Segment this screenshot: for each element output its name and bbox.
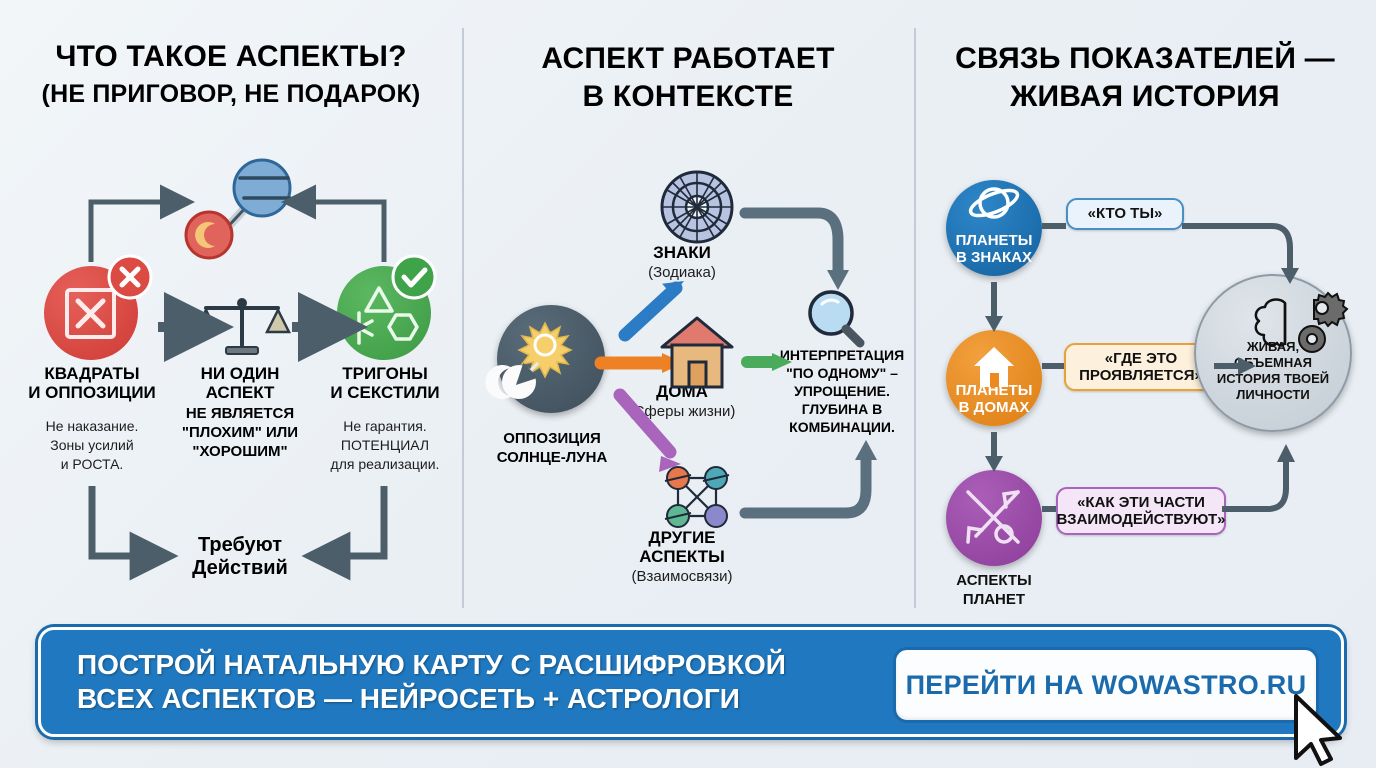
desc-trines-line2: ПОТЕНЦИАЛ bbox=[300, 437, 470, 455]
node-planets-in-signs[interactable]: ПЛАНЕТЫ В ЗНАКАХ bbox=[946, 180, 1042, 276]
cta-banner[interactable]: ПОСТРОЙ НАТАЛЬНУЮ КАРТУ С РАСШИФРОВКОЙ В… bbox=[38, 627, 1344, 737]
result-line3: УПРОЩЕНИЕ. bbox=[762, 384, 922, 400]
infographic-root: ЧТО ТАКОЕ АСПЕКТЫ? (НЕ ПРИГОВОР, НЕ ПОДА… bbox=[0, 0, 1376, 768]
result-line2: "ПО ОДНОМУ" – bbox=[762, 366, 922, 382]
desc-trines-line1: Не гарантия. bbox=[300, 418, 470, 436]
result-line4: ГЛУБИНА В bbox=[762, 402, 922, 418]
label-trines-line1: ТРИГОНЫ bbox=[312, 364, 458, 383]
living-story-line3: ИСТОРИЯ ТВОЕЙ bbox=[1217, 371, 1329, 387]
label-signs: ЗНАКИ bbox=[617, 243, 747, 262]
label-other-aspects-line2: АСПЕКТЫ bbox=[612, 547, 752, 566]
label-other-aspects-line1: ДРУГИЕ bbox=[612, 528, 752, 547]
pill-how-line2: ВЗАИМОДЕЙСТВУЮТ» bbox=[1057, 511, 1226, 528]
label-opposition-line1: ОППОЗИЦИЯ bbox=[477, 430, 627, 447]
desc-trines-line3: для реализации. bbox=[296, 456, 474, 474]
cta-button[interactable]: ПЕРЕЙТИ НА WOWASTRO.RU bbox=[893, 647, 1319, 723]
right-title-line1: СВЯЗЬ ПОКАЗАТЕЛЕЙ — bbox=[914, 42, 1376, 76]
label-balance-line3: НЕ ЯВЛЯЕТСЯ bbox=[163, 405, 317, 422]
aspects-planet-line2: ПЛАНЕТ bbox=[934, 591, 1054, 608]
label-require-action-line2: Действий bbox=[165, 557, 315, 580]
middle-title-line1: АСПЕКТ РАБОТАЕТ bbox=[462, 42, 914, 76]
sublabel-houses: (Сферы жизни) bbox=[602, 403, 762, 422]
pill-who-you-are-text: «КТО ТЫ» bbox=[1088, 205, 1163, 222]
label-squares-line1: КВАДРАТЫ bbox=[18, 364, 166, 383]
living-story-line4: ЛИЧНОСТИ bbox=[1217, 387, 1329, 403]
node-planets-in-houses[interactable]: ПЛАНЕТЫ В ДОМАХ bbox=[946, 330, 1042, 426]
planets-signs-line2: В ЗНАКАХ bbox=[956, 249, 1033, 266]
node-living-story[interactable]: ЖИВАЯ, ОБЪЕМНАЯ ИСТОРИЯ ТВОЕЙ ЛИЧНОСТИ bbox=[1194, 274, 1352, 432]
pill-who-you-are[interactable]: «КТО ТЫ» bbox=[1066, 198, 1184, 230]
middle-title-line2: В КОНТЕКСТЕ bbox=[462, 80, 914, 114]
right-title-line2: ЖИВАЯ ИСТОРИЯ bbox=[914, 80, 1376, 114]
label-balance-line4: "ПЛОХИМ" ИЛИ bbox=[158, 424, 322, 441]
planets-signs-line1: ПЛАНЕТЫ bbox=[956, 232, 1033, 249]
pill-where-line2: ПРОЯВЛЯЕТСЯ» bbox=[1079, 367, 1203, 384]
node-trines-sextiles[interactable] bbox=[337, 266, 431, 360]
left-title-line2: (НЕ ПРИГОВОР, НЕ ПОДАРОК) bbox=[0, 80, 462, 108]
planets-houses-line2: В ДОМАХ bbox=[956, 399, 1033, 416]
label-squares-line2: И ОППОЗИЦИИ bbox=[8, 383, 176, 402]
column-what-are-aspects: ЧТО ТАКОЕ АСПЕКТЫ? (НЕ ПРИГОВОР, НЕ ПОДА… bbox=[0, 0, 462, 610]
pill-where-line1: «ГДЕ ЭТО bbox=[1105, 350, 1177, 367]
result-line5: КОМБИНАЦИИ. bbox=[762, 420, 922, 436]
label-opposition-line2: СОЛНЦЕ-ЛУНА bbox=[477, 449, 627, 466]
label-require-action-line1: Требуют bbox=[165, 534, 315, 557]
cta-banner-text: ПОСТРОЙ НАТАЛЬНУЮ КАРТУ С РАСШИФРОВКОЙ В… bbox=[77, 648, 877, 716]
label-houses: ДОМА bbox=[612, 382, 752, 401]
desc-squares-line2: Зоны усилий bbox=[18, 437, 166, 455]
label-balance-line2: АСПЕКТ bbox=[170, 383, 310, 402]
label-balance-line1: НИ ОДИН bbox=[170, 364, 310, 383]
cta-line2: ВСЕХ АСПЕКТОВ — НЕЙРОСЕТЬ + АСТРОЛОГИ bbox=[77, 682, 877, 716]
desc-squares-line3: и РОСТА. bbox=[18, 456, 166, 474]
cta-button-label: ПЕРЕЙТИ НА WOWASTRO.RU bbox=[906, 670, 1307, 701]
cta-line1: ПОСТРОЙ НАТАЛЬНУЮ КАРТУ С РАСШИФРОВКОЙ bbox=[77, 648, 877, 682]
result-line1: ИНТЕРПРЕТАЦИЯ bbox=[762, 348, 922, 364]
pill-how-parts-interact[interactable]: «КАК ЭТИ ЧАСТИ ВЗАИМОДЕЙСТВУЮТ» bbox=[1056, 487, 1226, 535]
aspects-planet-line1: АСПЕКТЫ bbox=[934, 572, 1054, 589]
node-sun-moon-opposition[interactable] bbox=[497, 305, 605, 413]
desc-squares-line1: Не наказание. bbox=[18, 418, 166, 436]
living-story-line2: ОБЪЕМНАЯ bbox=[1217, 355, 1329, 371]
node-squares-oppositions[interactable] bbox=[44, 266, 138, 360]
left-title-line1: ЧТО ТАКОЕ АСПЕКТЫ? bbox=[0, 40, 462, 74]
column-connection-of-indicators: СВЯЗЬ ПОКАЗАТЕЛЕЙ — ЖИВАЯ ИСТОРИЯ ПЛАНЕТ… bbox=[914, 0, 1376, 610]
living-story-line1: ЖИВАЯ, bbox=[1217, 339, 1329, 355]
pill-how-line1: «КАК ЭТИ ЧАСТИ bbox=[1077, 494, 1205, 511]
label-balance-line5: "ХОРОШИМ" bbox=[163, 443, 317, 460]
sublabel-signs: (Зодиака) bbox=[617, 264, 747, 283]
planets-houses-line1: ПЛАНЕТЫ bbox=[956, 382, 1033, 399]
node-planet-aspects[interactable] bbox=[946, 470, 1042, 566]
label-trines-line2: И СЕКСТИЛИ bbox=[302, 383, 468, 402]
column-aspect-in-context: АСПЕКТ РАБОТАЕТ В КОНТЕКСТЕ ОППОЗИЦИЯ СО… bbox=[462, 0, 914, 610]
sublabel-other-aspects: (Взаимосвязи) bbox=[602, 568, 762, 587]
